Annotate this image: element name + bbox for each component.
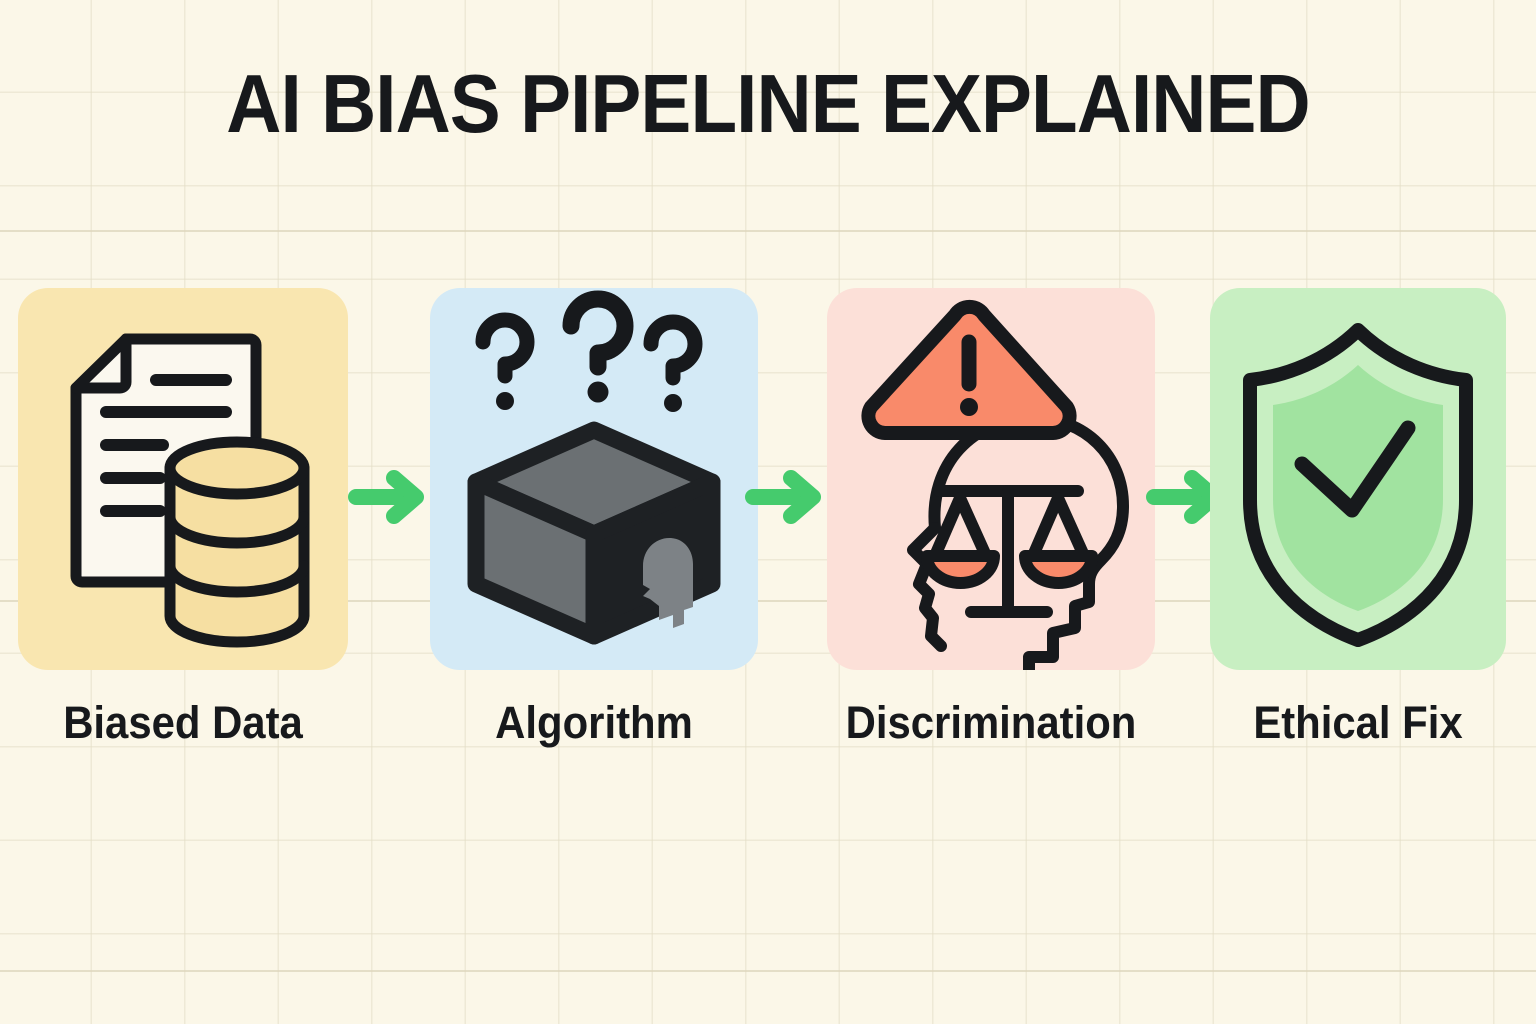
card-biased-data[interactable] [18,288,348,670]
card-discrimination[interactable] [827,288,1155,670]
arrow-biased-data-to-algorithm [348,468,430,526]
stage-label-ethical-fix: Ethical Fix [1220,700,1495,745]
shield-with-checkmark-icon [1210,288,1506,670]
card-algorithm[interactable] [430,288,758,670]
stage-label-discrimination: Discrimination [829,700,1153,745]
pipeline-diagram: Biased Data [0,0,1536,1024]
black-box-cube-with-question-marks-icon [430,288,758,670]
card-ethical-fix[interactable] [1210,288,1506,670]
document-and-database-icon [18,288,348,670]
head-with-warning-and-scales-icon [827,288,1155,670]
arrow-algorithm-to-discrimination [745,468,827,526]
stage-label-algorithm: Algorithm [441,700,746,745]
stage-label-biased-data: Biased Data [30,700,337,745]
